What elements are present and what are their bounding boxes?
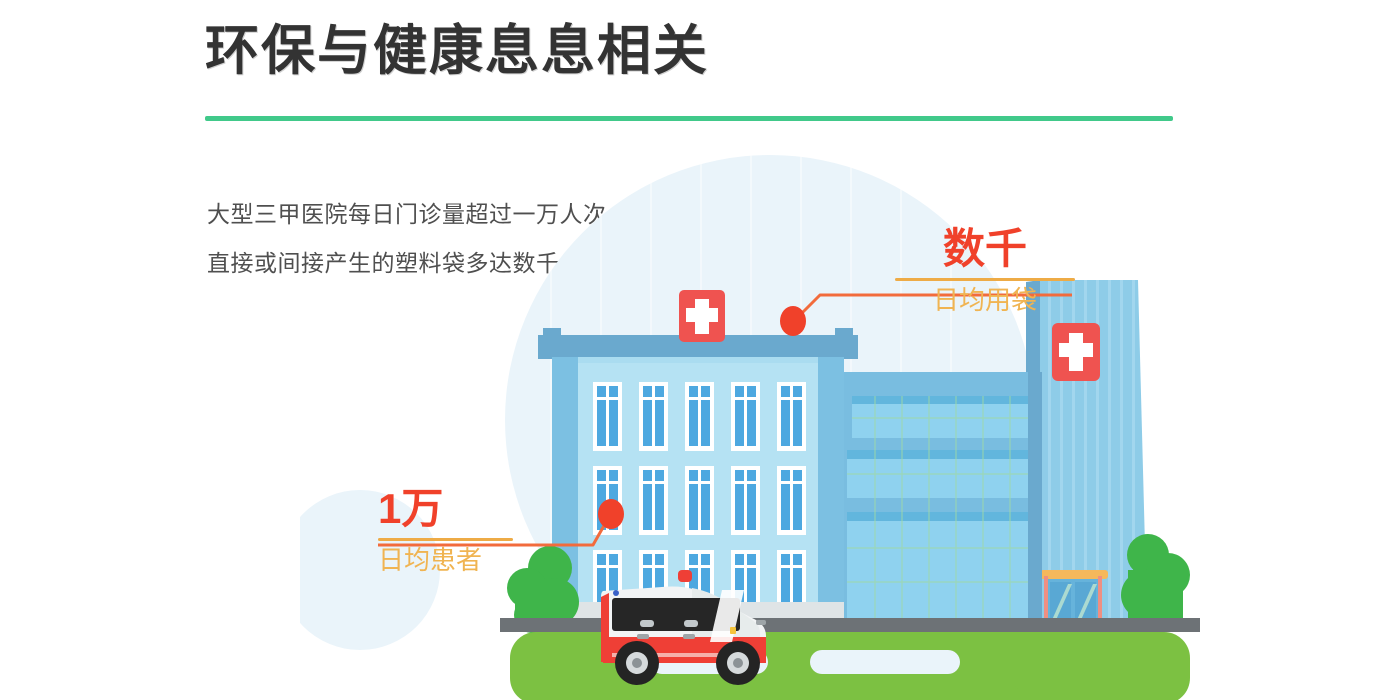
callout-bags-value: 数千 <box>895 228 1075 270</box>
ambulance-marker-amber <box>730 627 736 634</box>
awning-orange <box>1040 570 1108 579</box>
bush-right <box>1121 534 1190 628</box>
ambulance-marker-blue <box>613 590 619 596</box>
red-cross-sign-roof <box>679 290 725 342</box>
red-cross-sign-tower <box>1052 323 1100 381</box>
title-underline-rule <box>205 116 1173 121</box>
callout-patients: 1万 日均患者 <box>378 488 513 576</box>
ambulance-light <box>678 570 692 582</box>
callout-patients-label: 日均患者 <box>378 545 513 576</box>
hospital-main-building <box>538 290 858 634</box>
hospital-midblock <box>840 372 1042 622</box>
slide-canvas: 环保与健康息息相关 大型三甲医院每日门诊量超过一万人次，直接或间接产生的塑料袋多… <box>0 0 1400 700</box>
hospital-illustration <box>300 150 1300 700</box>
page-title: 环保与健康息息相关 <box>205 22 709 81</box>
callout-patients-value: 1万 <box>378 488 513 530</box>
callout-patients-rule <box>378 538 513 541</box>
callout-bags-label: 日均用袋 <box>895 285 1075 316</box>
callout-bags: 数千 日均用袋 <box>895 228 1075 316</box>
callout-bags-rule <box>895 278 1075 281</box>
tower-entrance <box>1040 570 1108 622</box>
